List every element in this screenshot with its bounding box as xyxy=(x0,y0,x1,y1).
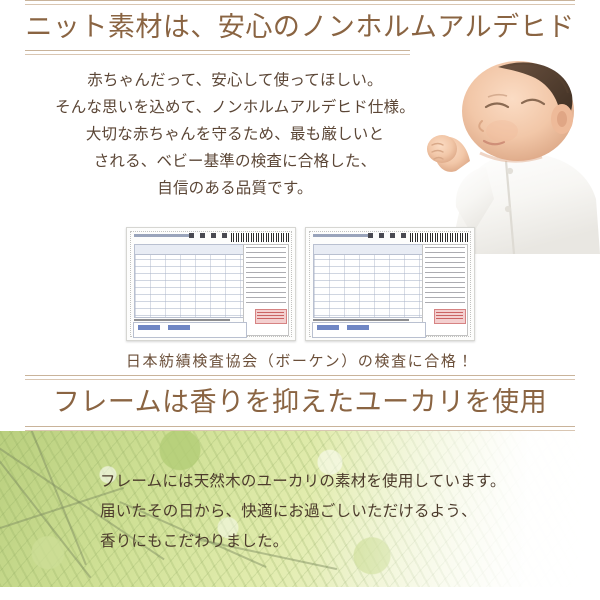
section1-body-line-1: 赤ちゃんだって、安心して使ってほしい。 xyxy=(0,67,470,94)
section1-body-line-3: 大切な赤ちゃんを守るため、最も厳しいと xyxy=(0,121,470,148)
section2-body-line-2: 届いたその日から、快適にお過ごしいただけるよう、 xyxy=(100,497,506,527)
certificate-note-line xyxy=(134,319,230,321)
test-certificate-1[interactable] xyxy=(126,227,296,341)
certificate-results-table xyxy=(134,244,245,318)
section1-body-line-4: される、ベビー基準の検査に合格した、 xyxy=(0,148,470,175)
certificate-caption: 日本紡績検査協会（ボーケン）の検査に合格！ xyxy=(0,350,600,371)
certificate-thumbnails xyxy=(0,227,600,341)
certificate-header-label xyxy=(313,234,371,237)
certificate-header-label xyxy=(134,234,192,237)
certificate-footer-cell xyxy=(138,325,160,330)
stamp-text xyxy=(436,312,463,321)
section2-content: フレームには天然木のユーカリの素材を使用しています。 届いたその日から、快適にお… xyxy=(0,431,600,587)
product-description-page: ニット素材は、安心のノンホルムアルデヒド xyxy=(0,0,600,600)
section1-body-line-5: 自信のある品質です。 xyxy=(0,175,470,202)
certificate-footer-cell xyxy=(347,325,369,330)
certificate-side-text xyxy=(425,247,465,307)
branch-line xyxy=(29,431,87,565)
certificate-footer-table xyxy=(133,322,247,338)
section1-heading: ニット素材は、安心のノンホルムアルデヒド xyxy=(0,5,600,50)
approval-stamp-icon xyxy=(255,309,287,324)
approval-stamp-icon xyxy=(434,309,466,324)
section2-body-line-1: フレームには天然木のユーカリの素材を使用しています。 xyxy=(100,467,506,497)
test-certificate-2[interactable] xyxy=(305,227,475,341)
section1-body-line-2: そんな思いを込めて、ノンホルムアルデヒド仕様。 xyxy=(0,94,470,121)
certificate-side-text xyxy=(246,247,286,307)
certificate-footer-table xyxy=(312,322,426,338)
barcode-icon xyxy=(410,233,468,242)
stamp-text xyxy=(257,312,284,321)
certificate-footer-cell xyxy=(168,325,190,330)
barcode-icon xyxy=(231,233,289,242)
section2-body-text: フレームには天然木のユーカリの素材を使用しています。 届いたその日から、快適にお… xyxy=(100,467,506,557)
certificate-results-table xyxy=(313,244,424,318)
section1-body-text: 赤ちゃんだって、安心して使ってほしい。 そんな思いを込めて、ノンホルムアルデヒド… xyxy=(0,67,470,202)
certificate-table-header xyxy=(314,245,423,255)
certificate-footer-cell xyxy=(317,325,339,330)
section2-heading: フレームは香りを抑えたユーカリを使用 xyxy=(0,380,600,425)
section1-content: 赤ちゃんだって、安心して使ってほしい。 そんな思いを込めて、ノンホルムアルデヒド… xyxy=(0,55,600,375)
section2-body-line-3: 香りにもこだわりました。 xyxy=(100,527,506,557)
certificate-note-line xyxy=(313,319,409,321)
certificate-table-header xyxy=(135,245,244,255)
